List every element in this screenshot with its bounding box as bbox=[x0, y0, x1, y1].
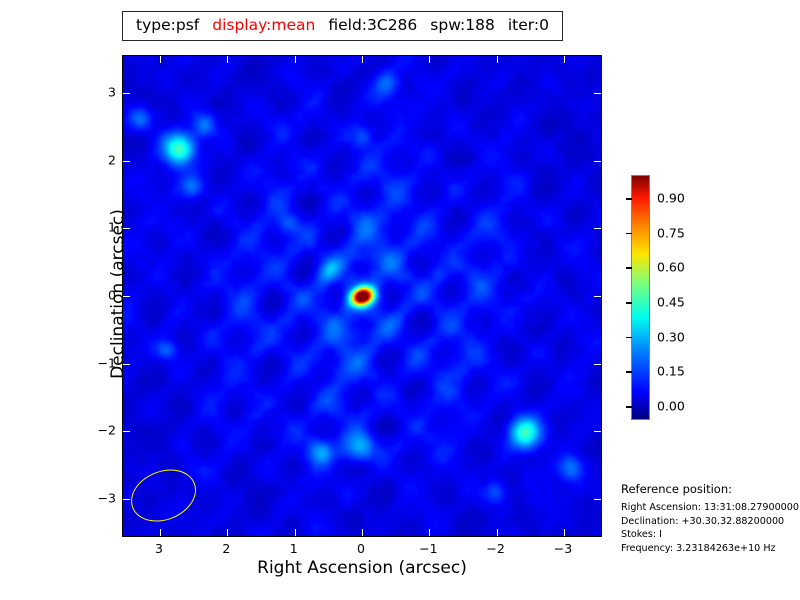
y-tick-right bbox=[594, 364, 601, 365]
colorbar-tick bbox=[626, 371, 632, 373]
title-segment-1: display:mean bbox=[212, 18, 315, 34]
colorbar-tick-label: 0.90 bbox=[657, 191, 685, 206]
x-tick-top bbox=[227, 56, 228, 63]
colorbar-tick bbox=[626, 198, 632, 200]
colorbar-tick-label: 0.30 bbox=[657, 329, 685, 344]
colorbar-gradient bbox=[631, 175, 650, 420]
x-tick-label: −2 bbox=[486, 541, 504, 556]
reference-position-line: Declination: +30.30.32.88200000 bbox=[621, 515, 800, 529]
title-segment-3: spw:188 bbox=[430, 18, 495, 34]
colorbar-tick-label: 0.45 bbox=[657, 295, 685, 310]
x-tick-label: 0 bbox=[357, 541, 365, 556]
title-bar: type:psfdisplay:meanfield:3C286spw:188it… bbox=[122, 11, 563, 41]
reference-position-line: Frequency: 3.23184263e+10 Hz bbox=[621, 542, 800, 556]
title-segment-0: type:psf bbox=[136, 18, 199, 34]
colorbar-tick bbox=[626, 337, 632, 339]
y-tick-right bbox=[594, 228, 601, 229]
x-tick-label: −1 bbox=[419, 541, 437, 556]
y-tick-right bbox=[594, 161, 601, 162]
colorbar-tick bbox=[626, 267, 632, 269]
colorbar-tick-label: 0.15 bbox=[657, 364, 685, 379]
x-tick bbox=[160, 529, 161, 536]
psf-image-plot[interactable] bbox=[122, 55, 602, 537]
y-tick-right bbox=[594, 431, 601, 432]
colorbar-tick bbox=[626, 302, 632, 304]
x-tick-top bbox=[429, 56, 430, 63]
colorbar-tick bbox=[626, 406, 632, 408]
title-segment-2: field:3C286 bbox=[328, 18, 417, 34]
colorbar-tick-label: 0.00 bbox=[657, 399, 685, 414]
x-tick-top bbox=[295, 56, 296, 63]
x-tick-top bbox=[160, 56, 161, 63]
x-tick bbox=[362, 529, 363, 536]
x-tick-label: 2 bbox=[222, 541, 230, 556]
psf-image-canvas[interactable] bbox=[123, 56, 601, 536]
x-tick bbox=[497, 529, 498, 536]
y-tick-right bbox=[594, 296, 601, 297]
x-tick-label: 1 bbox=[290, 541, 298, 556]
reference-position-block: Reference position: Right Ascension: 13:… bbox=[621, 482, 800, 555]
y-axis-title: Declination (arcsec) bbox=[108, 54, 128, 534]
x-tick-top bbox=[497, 56, 498, 63]
reference-position-line: Stokes: I bbox=[621, 528, 800, 542]
x-tick bbox=[227, 529, 228, 536]
reference-position-lines: Right Ascension: 13:31:08.27900000Declin… bbox=[621, 501, 800, 555]
x-tick bbox=[429, 529, 430, 536]
colorbar[interactable]: 0.900.750.600.450.300.150.00 bbox=[631, 175, 650, 420]
x-tick-label: −3 bbox=[554, 541, 572, 556]
x-tick-top bbox=[362, 56, 363, 63]
x-tick bbox=[564, 529, 565, 536]
x-tick-label: 3 bbox=[155, 541, 163, 556]
colorbar-tick bbox=[626, 233, 632, 235]
y-tick-right bbox=[594, 93, 601, 94]
reference-position-heading: Reference position: bbox=[621, 482, 800, 496]
colorbar-tick-label: 0.60 bbox=[657, 260, 685, 275]
y-tick-right bbox=[594, 499, 601, 500]
title-segment-4: iter:0 bbox=[508, 18, 549, 34]
colorbar-tick-label: 0.75 bbox=[657, 225, 685, 240]
x-tick bbox=[295, 529, 296, 536]
x-axis-title: Right Ascension (arcsec) bbox=[122, 558, 602, 578]
x-tick-top bbox=[564, 56, 565, 63]
reference-position-line: Right Ascension: 13:31:08.27900000 bbox=[621, 501, 800, 515]
